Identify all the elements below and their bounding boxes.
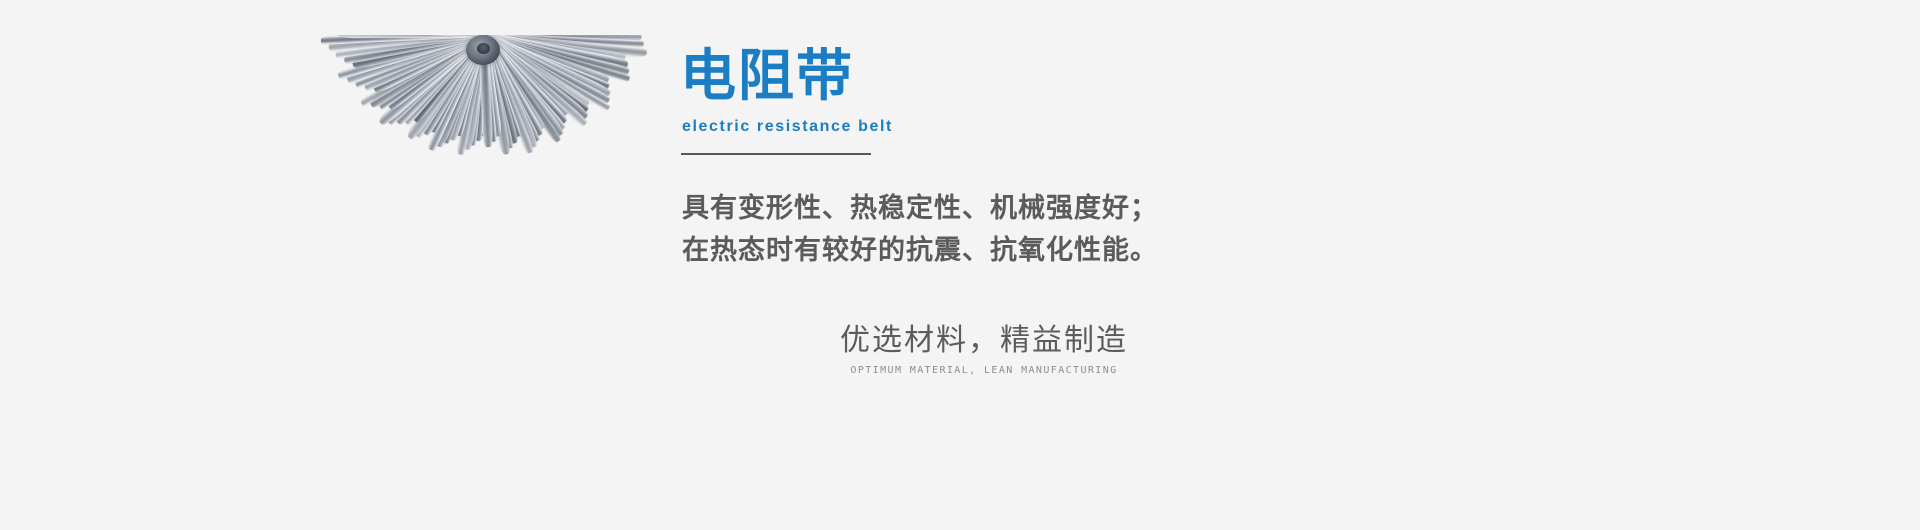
tagline-cn: 优选材料，精益制造 <box>774 322 1194 360</box>
product-image <box>300 35 665 355</box>
page-title: 电阻带 <box>680 46 854 108</box>
tagline: 优选材料，精益制造 OPTIMUM MATERIAL, LEAN MANUFAC… <box>774 322 1194 378</box>
coil-hub-core <box>477 43 490 54</box>
description-line-1: 具有变形性、热稳定性、机械强度好； <box>682 188 1242 230</box>
content-column: 电阻带 electric resistance belt 具有变形性、热稳定性、… <box>680 0 1480 530</box>
description-line-2: 在热态时有较好的抗震、抗氧化性能。 <box>682 230 1242 272</box>
tagline-en: OPTIMUM MATERIAL, LEAN MANUFACTURING <box>774 364 1194 378</box>
coil-hub <box>466 35 500 65</box>
description-text: 具有变形性、热稳定性、机械强度好； 在热态时有较好的抗震、抗氧化性能。 <box>682 188 1242 272</box>
resistance-belt-coil-icon <box>300 35 665 355</box>
title-divider <box>681 153 871 155</box>
product-banner: 电阻带 electric resistance belt 具有变形性、热稳定性、… <box>0 0 1920 530</box>
page-subtitle: electric resistance belt <box>682 116 893 138</box>
